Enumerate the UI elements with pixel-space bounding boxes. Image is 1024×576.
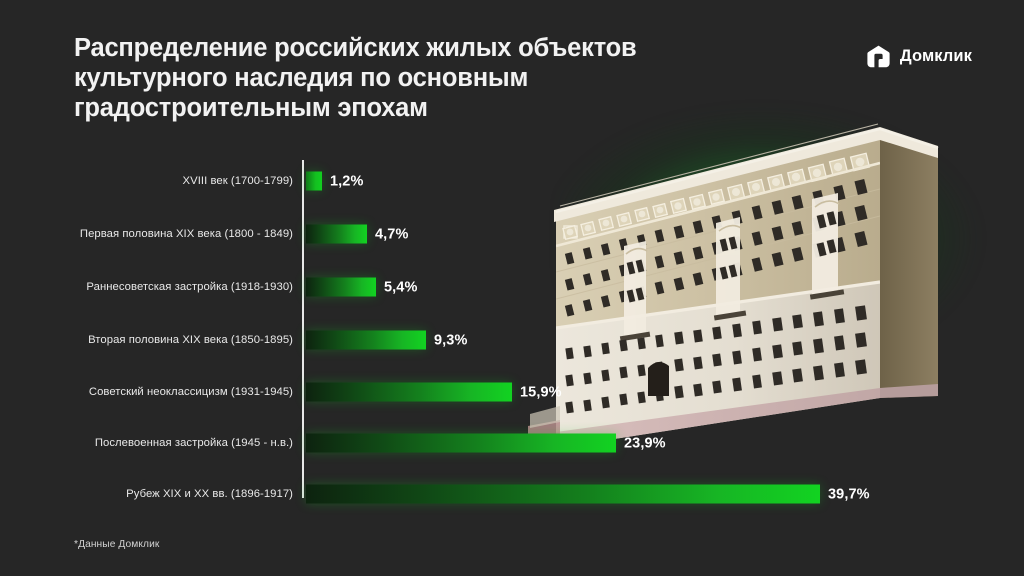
- value-label: 39,7%: [828, 486, 870, 502]
- bar-group: 23,9%: [306, 434, 666, 453]
- value-label: 5,4%: [384, 279, 417, 295]
- chart-row: Первая половина XIX века (1800 - 1849) 4…: [0, 224, 1024, 244]
- bar-group: 1,2%: [306, 172, 363, 191]
- category-label: Советский неоклассицизм (1931-1945): [89, 386, 293, 398]
- value-label: 4,7%: [375, 226, 408, 242]
- bar-group: 9,3%: [306, 331, 467, 350]
- source-footnote: *Данные Домклик: [74, 539, 159, 550]
- category-label: Первая половина XIX века (1800 - 1849): [80, 228, 293, 240]
- bar: [306, 383, 512, 402]
- chart-row: Раннесоветская застройка (1918-1930) 5,4…: [0, 277, 1024, 297]
- bar-group: 15,9%: [306, 383, 562, 402]
- category-label: Послевоенная застройка (1945 - н.в.): [95, 437, 293, 449]
- chart-row: XVIII век (1700-1799) 1,2%: [0, 171, 1024, 191]
- bar: [306, 225, 367, 244]
- value-label: 15,9%: [520, 384, 562, 400]
- category-label: Рубеж XIX и XX вв. (1896-1917): [126, 488, 293, 500]
- bar: [306, 434, 616, 453]
- bar: [306, 485, 820, 504]
- bar-chart: XVIII век (1700-1799) 1,2% Первая полови…: [0, 0, 1024, 576]
- bar: [306, 331, 426, 350]
- bar-group: 5,4%: [306, 278, 417, 297]
- value-label: 23,9%: [624, 435, 666, 451]
- chart-row: Советский неоклассицизм (1931-1945) 15,9…: [0, 382, 1024, 402]
- value-label: 1,2%: [330, 173, 363, 189]
- value-label: 9,3%: [434, 332, 467, 348]
- chart-row: Рубеж XIX и XX вв. (1896-1917) 39,7%: [0, 484, 1024, 504]
- bar: [306, 172, 322, 191]
- chart-row: Послевоенная застройка (1945 - н.в.) 23,…: [0, 433, 1024, 453]
- chart-row: Вторая половина XIX века (1850-1895) 9,3…: [0, 330, 1024, 350]
- category-label: XVIII век (1700-1799): [183, 175, 293, 187]
- category-label: Вторая половина XIX века (1850-1895): [88, 334, 293, 346]
- category-label: Раннесоветская застройка (1918-1930): [86, 281, 293, 293]
- bar: [306, 278, 376, 297]
- bar-group: 39,7%: [306, 485, 870, 504]
- bar-group: 4,7%: [306, 225, 408, 244]
